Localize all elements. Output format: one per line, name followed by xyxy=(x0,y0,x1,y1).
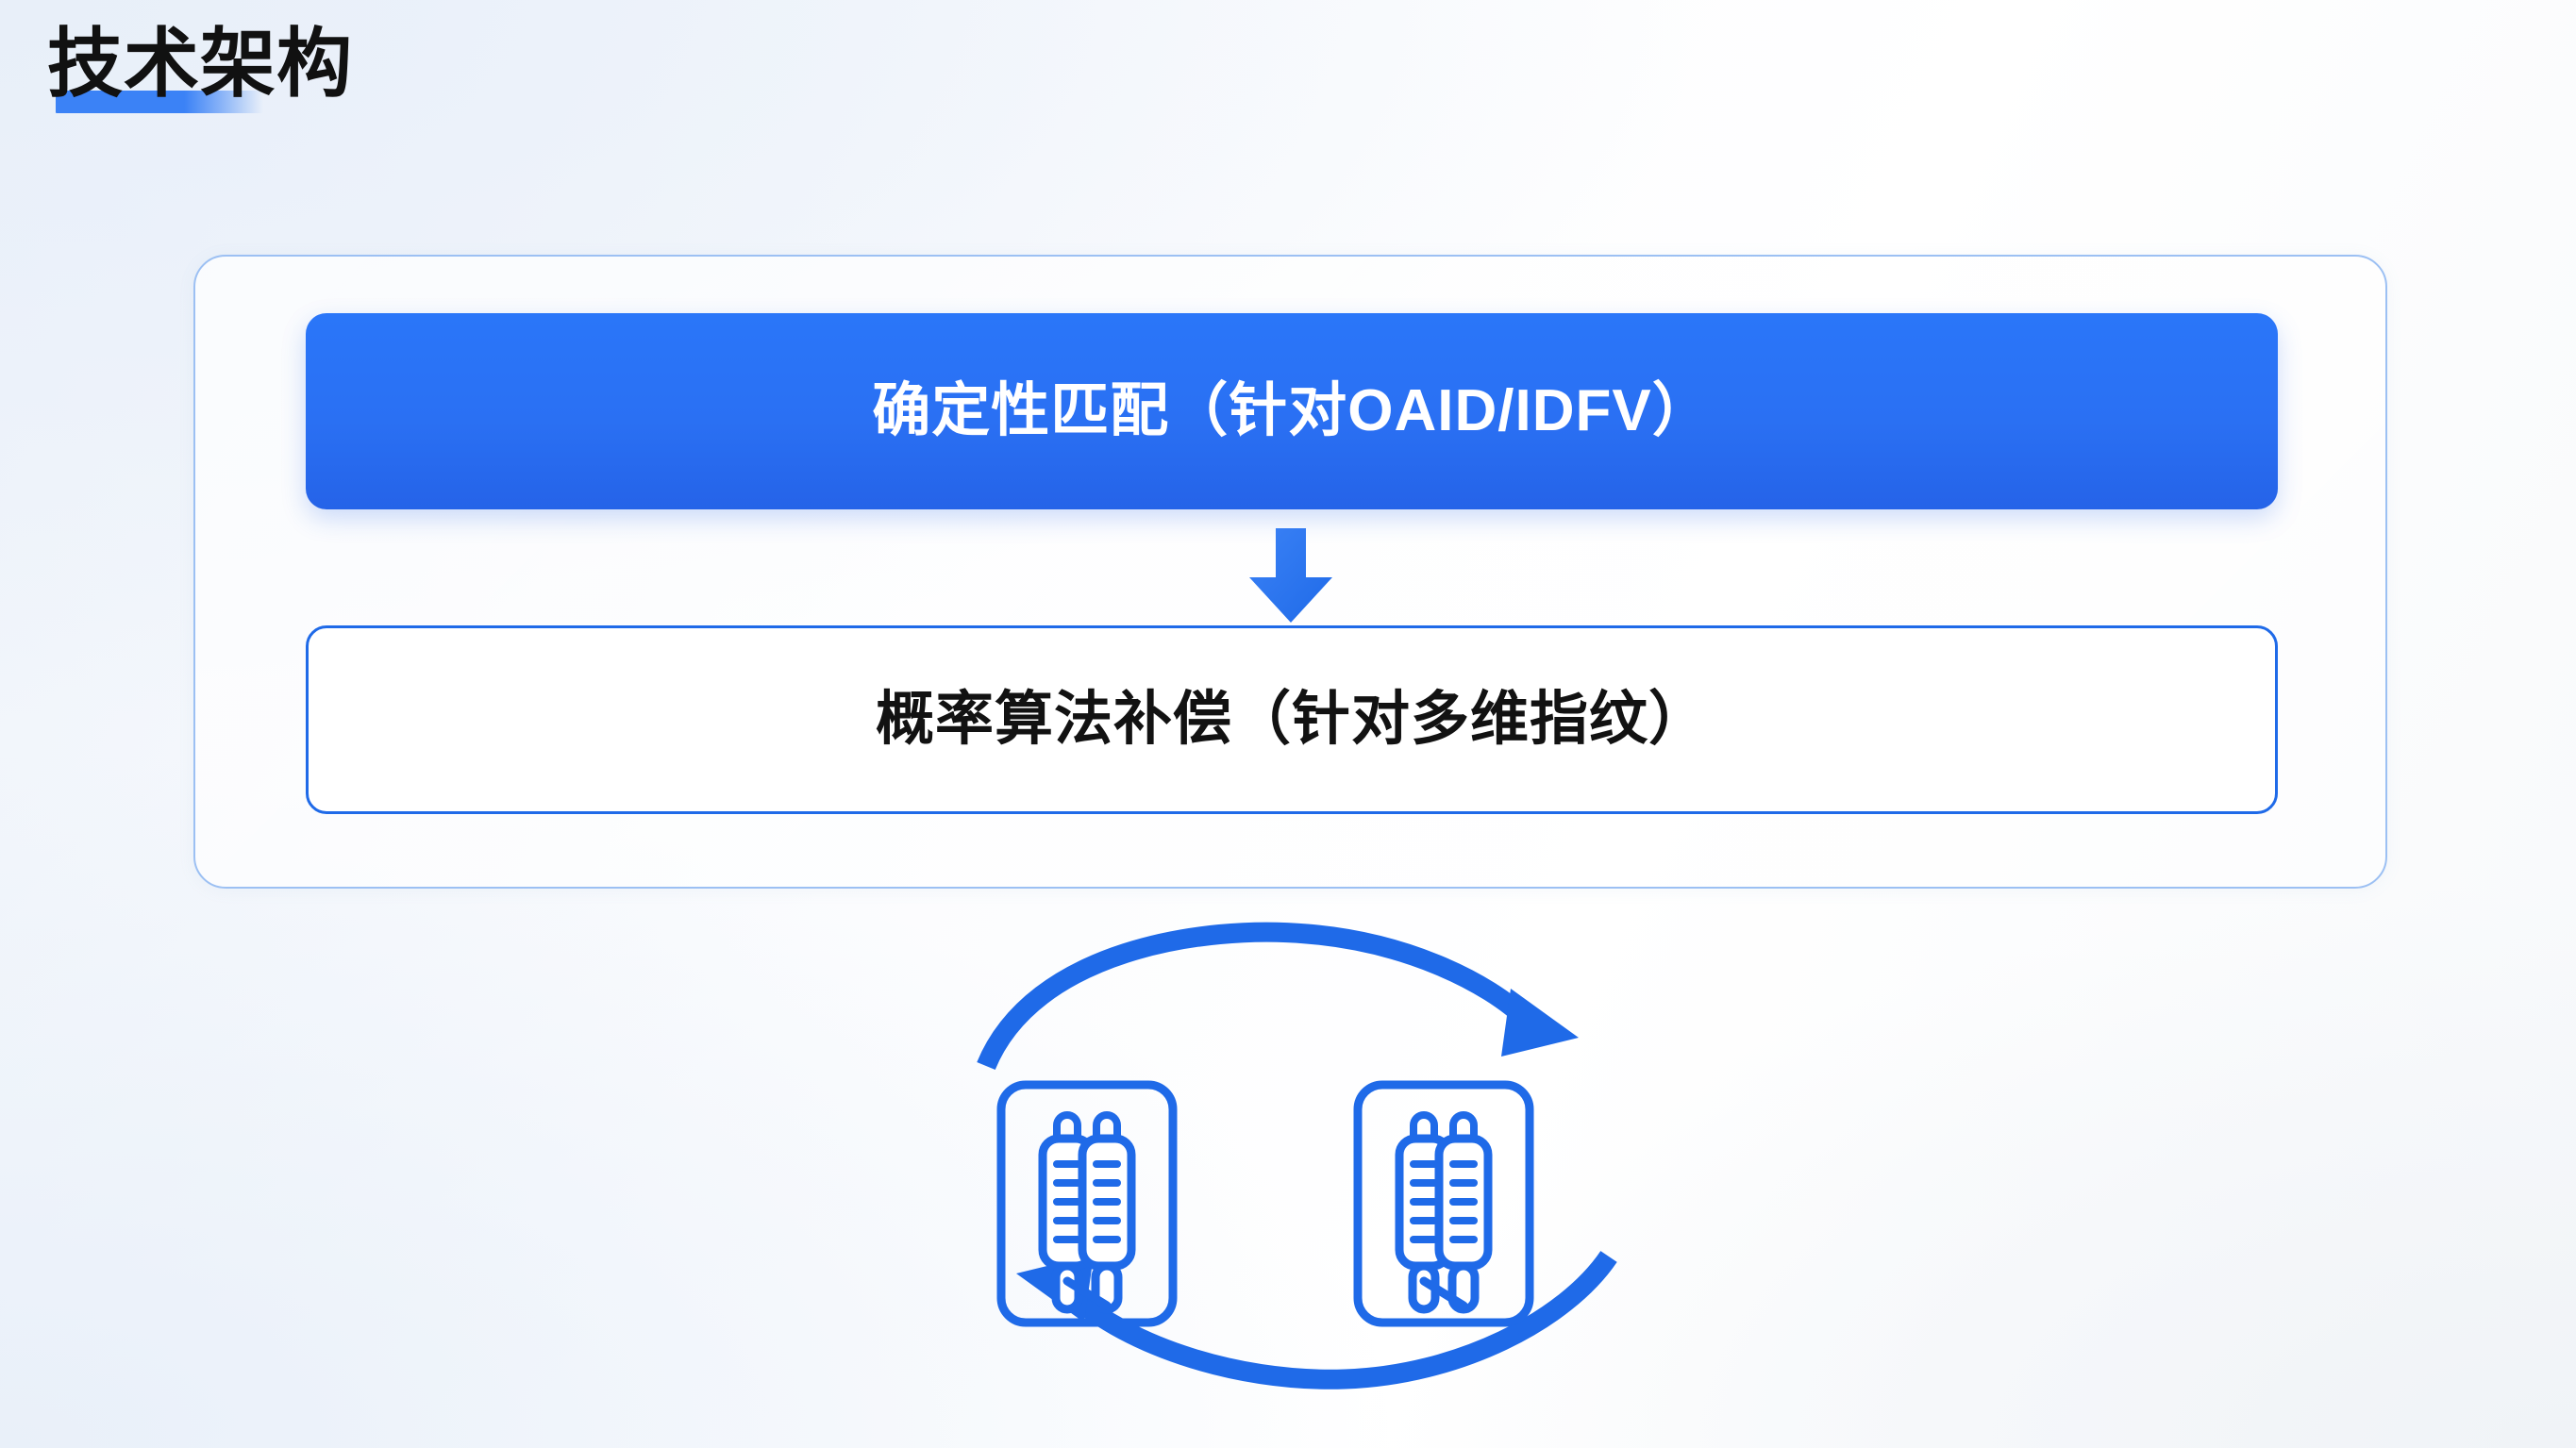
server-rack-icon-right xyxy=(1358,1085,1530,1323)
stage-deterministic-match-label: 确定性匹配（针对OAID/IDFV） xyxy=(872,382,1711,441)
page-title-block: 技术架构 xyxy=(47,15,353,119)
sync-arrow-top-icon xyxy=(986,932,1579,1066)
stage-probabilistic-compensation[interactable]: 概率算法补偿（针对多维指纹） xyxy=(306,625,2278,814)
stage-deterministic-match[interactable]: 确定性匹配（针对OAID/IDFV） xyxy=(306,313,2278,509)
slide-canvas: 技术架构 确定性匹配（针对OAID/IDFV） 概率算法补偿（针对多维指纹） xyxy=(0,0,2576,1448)
flow-arrow-down-icon xyxy=(1247,528,1334,623)
data-sync-diagram xyxy=(948,906,1647,1415)
page-title: 技术架构 xyxy=(47,15,353,113)
architecture-card: 确定性匹配（针对OAID/IDFV） 概率算法补偿（针对多维指纹） xyxy=(193,255,2387,889)
stage-probabilistic-compensation-label: 概率算法补偿（针对多维指纹） xyxy=(876,691,1708,749)
